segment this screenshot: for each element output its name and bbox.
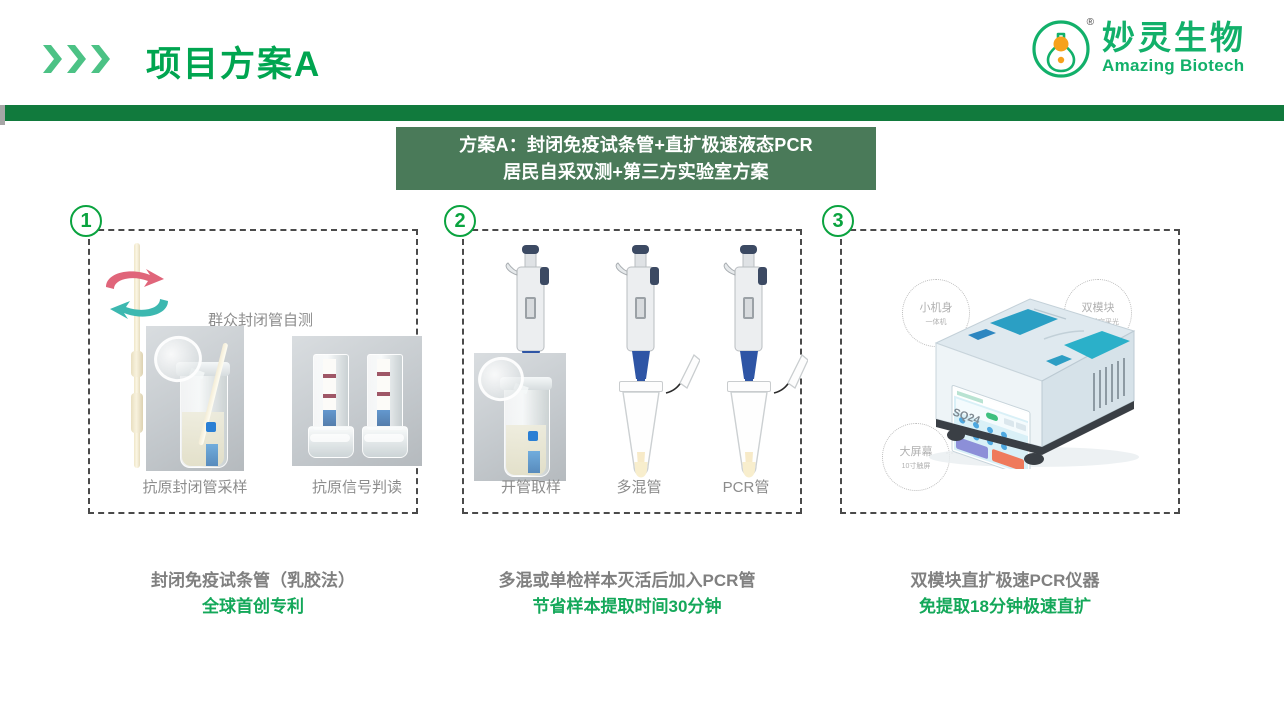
logo-name-cn: 妙灵生物 — [1102, 21, 1246, 56]
step-2-item-2-label: PCR管 — [700, 476, 792, 497]
step-2-panel: 开管取样 — [462, 229, 802, 514]
step-2-badge: 2 — [444, 205, 476, 237]
antigen-strip-tubes-photo — [292, 336, 422, 466]
step-2-caption-sub: 节省样本提取时间30分钟 — [440, 594, 814, 620]
company-logo: ® 妙灵生物 Amazing Biotech — [1030, 18, 1246, 80]
triple-chevron-right-icon — [42, 44, 111, 74]
banner-line-2: 居民自采双测+第三方实验室方案 — [503, 159, 769, 185]
pooling-tube-open-cap-icon — [660, 351, 700, 399]
pcr-instrument-icon: SQ24 — [894, 269, 1144, 469]
step-1-caption-sub: 全球首创专利 — [66, 594, 440, 620]
step-1-item-1-label: 抗原信号判读 — [280, 476, 434, 497]
step-1-caption: 封闭免疫试条管（乳胶法） 全球首创专利 — [66, 568, 440, 619]
step-1-badge: 1 — [70, 205, 102, 237]
step-2-caption-main: 多混或单检样本灭活后加入PCR管 — [440, 568, 814, 594]
scheme-banner: 方案A：封闭免疫试条管+直扩极速液态PCR 居民自采双测+第三方实验室方案 — [396, 127, 876, 190]
rotation-arrows-icon — [98, 261, 176, 327]
banner-line-1: 方案A：封闭免疫试条管+直扩极速液态PCR — [459, 132, 813, 158]
step-1-caption-main: 封闭免疫试条管（乳胶法） — [66, 568, 440, 594]
collection-tube-photo-step2 — [474, 353, 566, 481]
step-1-panel: 群众封闭管自测 抗原封闭管采样 — [88, 229, 418, 514]
header-divider-bar — [5, 105, 1284, 121]
step-3-caption-sub: 免提取18分钟极速直扩 — [818, 594, 1192, 620]
step-3-caption: 双模块直扩极速PCR仪器 免提取18分钟极速直扩 — [818, 568, 1192, 619]
registered-mark: ® — [1087, 17, 1094, 28]
step-3-caption-main: 双模块直扩极速PCR仪器 — [818, 568, 1192, 594]
flask-circle-logo-icon: ® — [1030, 18, 1092, 80]
step-3-badge: 3 — [822, 205, 854, 237]
step-2-caption: 多混或单检样本灭活后加入PCR管 节省样本提取时间30分钟 — [440, 568, 814, 619]
logo-name-en: Amazing Biotech — [1102, 56, 1246, 76]
step-2-item-0-label: 开管取样 — [476, 476, 586, 497]
step-1-item-0-label: 抗原封闭管采样 — [128, 476, 262, 497]
page-header: 项目方案A ® 妙灵生物 Amazing Biotech — [0, 0, 1284, 105]
collection-tube-photo — [146, 326, 244, 471]
step-3-panel: 小机身 一体机 双模块 超三温定采光 大屏幕 10寸触屏 — [840, 229, 1180, 514]
step-2-item-1-label: 多混管 — [594, 476, 684, 497]
pcr-tube-open-cap-icon — [768, 351, 808, 399]
page-title: 项目方案A — [146, 36, 321, 87]
